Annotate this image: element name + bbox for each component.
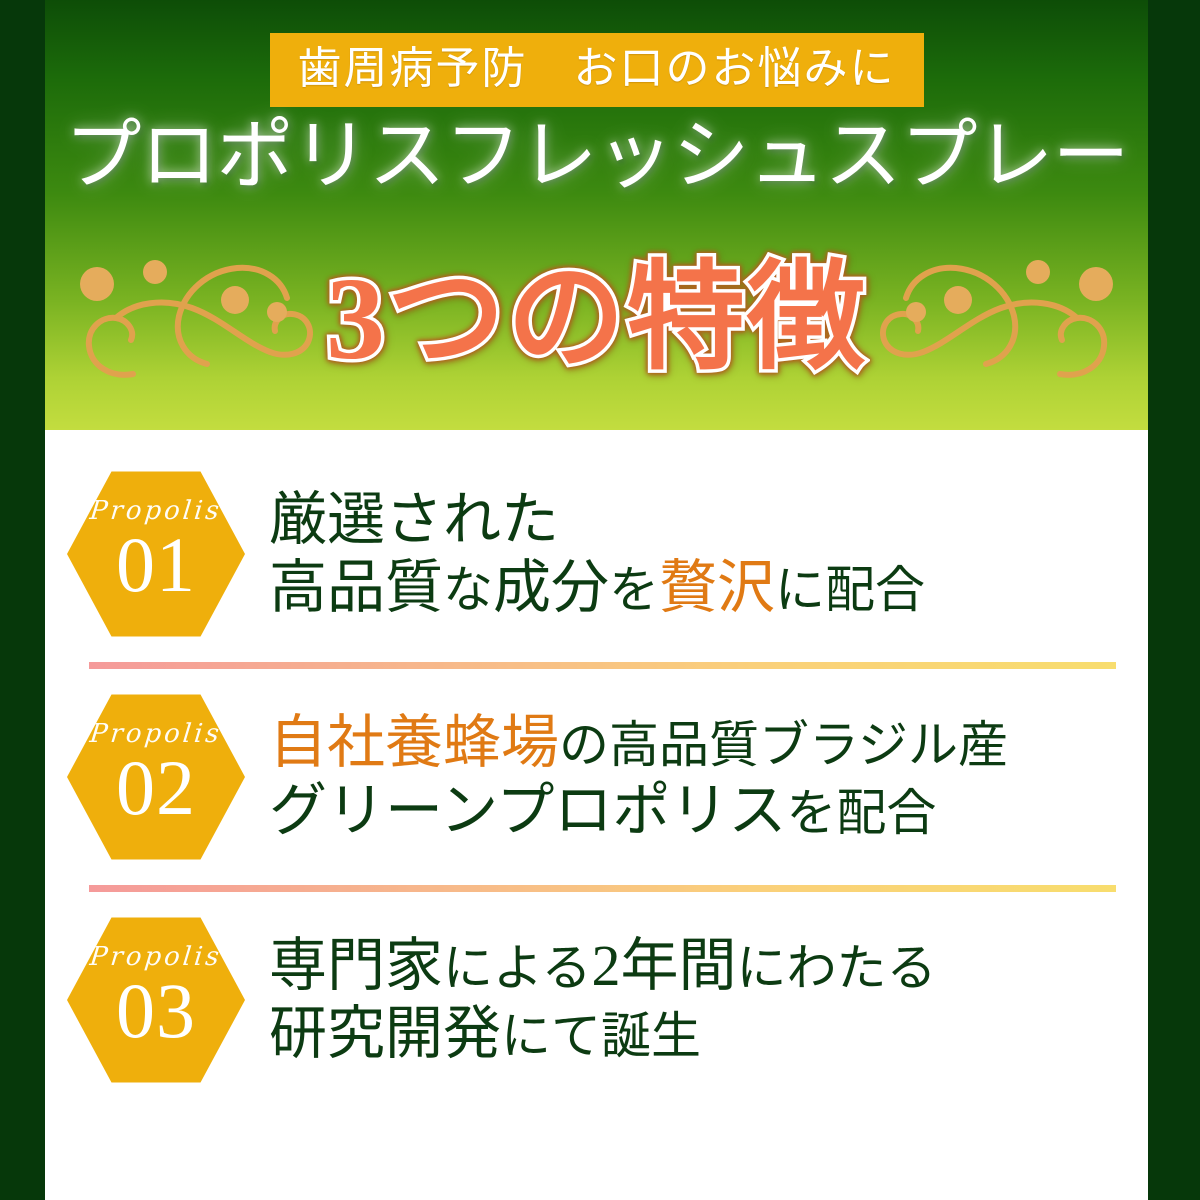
feature-text-highlight: 自社養蜂場 (269, 710, 559, 775)
feature-text-line: 研究開発にて誕生 (269, 1000, 937, 1068)
badge-number: 01 (116, 526, 196, 604)
feature-text-run: 2年間 (592, 933, 737, 998)
feature-text-run: に配合 (775, 562, 925, 618)
feature-divider-1 (89, 662, 1116, 669)
feature-text-run: 成分 (493, 555, 609, 620)
feature-text-03: 専門家による2年間にわたる研究開発にて誕生 (269, 932, 937, 1069)
kicker-text: 歯周病予防 お口のお悩みに (270, 33, 924, 107)
feature-badge-02: Propolis 02 (67, 691, 245, 863)
feature-text-run: を配合 (786, 785, 936, 841)
promo-banner: 歯周病予防 お口のお悩みに プロポリスフレッシュスプレー (0, 0, 1200, 1200)
feature-text-run: な (443, 562, 493, 618)
badge-script-label: Propolis (89, 498, 224, 524)
feature-text-run: 専門家 (269, 933, 443, 998)
banner-header: 歯周病予防 お口のお悩みに プロポリスフレッシュスプレー (45, 0, 1148, 430)
badge-number: 03 (116, 972, 196, 1050)
feature-text-line: 専門家による2年間にわたる (269, 932, 937, 1000)
feature-text-run: 厳選された (269, 487, 559, 552)
feature-item-03: Propolis 03 専門家による2年間にわたる研究開発にて誕生 (45, 902, 1148, 1098)
feature-text-run: グリーンプロポリス (269, 778, 786, 843)
feature-text-run: 研究開発 (269, 1001, 501, 1066)
badge-script-label: Propolis (89, 944, 224, 970)
feature-item-01: Propolis 01 厳選された高品質な成分を贅沢に配合 (45, 456, 1148, 652)
feature-divider-2 (89, 885, 1116, 892)
feature-text-02: 自社養蜂場の高品質ブラジル産グリーンプロポリスを配合 (269, 709, 1008, 846)
feature-text-highlight: 贅沢 (659, 555, 775, 620)
badge-script-label: Propolis (89, 721, 224, 747)
feature-text-line: 自社養蜂場の高品質ブラジル産 (269, 709, 1008, 777)
feature-text-line: グリーンプロポリスを配合 (269, 777, 1008, 845)
headline-wrap: 3つの特徴 (45, 248, 1148, 398)
feature-text-run: にて誕生 (501, 1008, 701, 1064)
feature-item-02: Propolis 02 自社養蜂場の高品質ブラジル産グリーンプロポリスを配合 (45, 679, 1148, 875)
product-title: プロポリスフレッシュスプレー (45, 118, 1148, 195)
feature-text-run: による (443, 940, 592, 996)
feature-list: Propolis 01 厳選された高品質な成分を贅沢に配合 Propolis 0… (45, 430, 1148, 1098)
feature-text-line: 高品質な成分を贅沢に配合 (269, 554, 925, 622)
feature-text-run: を (609, 562, 659, 618)
feature-text-run: にわたる (737, 940, 937, 996)
headline-text: 3つの特徴 (326, 248, 867, 390)
feature-text-run: 高品質 (269, 555, 443, 620)
feature-text-run: の高品質ブラジル産 (559, 717, 1008, 773)
feature-badge-01: Propolis 01 (67, 468, 245, 640)
kicker-banner: 歯周病予防 お口のお悩みに (45, 33, 1148, 107)
feature-badge-03: Propolis 03 (67, 914, 245, 1086)
badge-number: 02 (116, 749, 196, 827)
feature-text-line: 厳選された (269, 486, 925, 554)
feature-text-01: 厳選された高品質な成分を贅沢に配合 (269, 486, 925, 623)
